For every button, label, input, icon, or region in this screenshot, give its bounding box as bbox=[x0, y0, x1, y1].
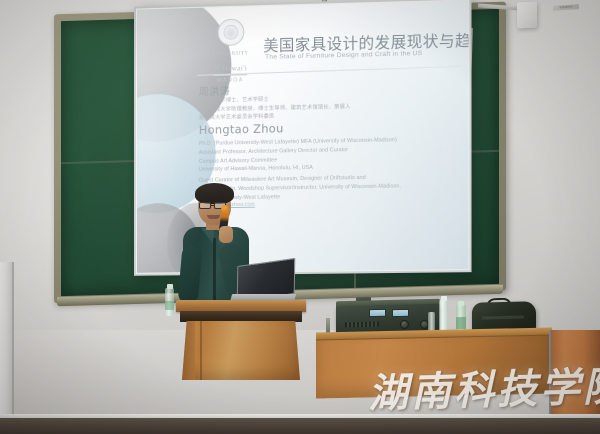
speaker-credentials-cn: 家具设计学博士、艺术学硕士 美国普渡大学助理教授、博士生导师、建筑艺术馆馆长、策… bbox=[199, 94, 351, 123]
lectern-side bbox=[182, 321, 195, 380]
logo-line-1: University bbox=[200, 48, 261, 58]
wall-speaker bbox=[517, 1, 537, 28]
water-bottle-podium bbox=[165, 288, 174, 316]
bottle-cap bbox=[458, 301, 464, 306]
amplifier-knob[interactable] bbox=[400, 320, 409, 329]
lectern bbox=[176, 300, 306, 380]
presenter-hair bbox=[195, 183, 234, 204]
amplifier-display-left bbox=[369, 309, 386, 317]
amplifier-display-right bbox=[392, 309, 409, 317]
bottle-label bbox=[456, 317, 466, 329]
door-frame-left bbox=[0, 262, 14, 434]
baseboard bbox=[0, 418, 600, 434]
amplifier-vents bbox=[345, 322, 379, 328]
speaker-credentials-en: Ph.D. (Purdue University-West Lafayette)… bbox=[199, 136, 397, 175]
shirt-placket bbox=[213, 238, 216, 304]
presenter-mouth bbox=[207, 215, 220, 219]
lectern-band bbox=[180, 311, 302, 322]
lectern-seam bbox=[200, 321, 202, 380]
lecture-hall-photo: Wireless University of Hawai'i MANOA 美国家… bbox=[0, 0, 600, 434]
bottle-label bbox=[165, 301, 174, 310]
bottle-cap bbox=[441, 296, 447, 301]
presenter-hand bbox=[219, 226, 233, 243]
glasses-left-lens bbox=[199, 202, 211, 209]
glasses-bridge bbox=[211, 205, 215, 206]
venue-watermark: 湖南科技学院 bbox=[367, 359, 591, 423]
speaker-name-en: Hongtao Zhou bbox=[199, 121, 284, 137]
bottle-cap bbox=[167, 284, 173, 289]
university-seal-icon bbox=[217, 19, 244, 47]
